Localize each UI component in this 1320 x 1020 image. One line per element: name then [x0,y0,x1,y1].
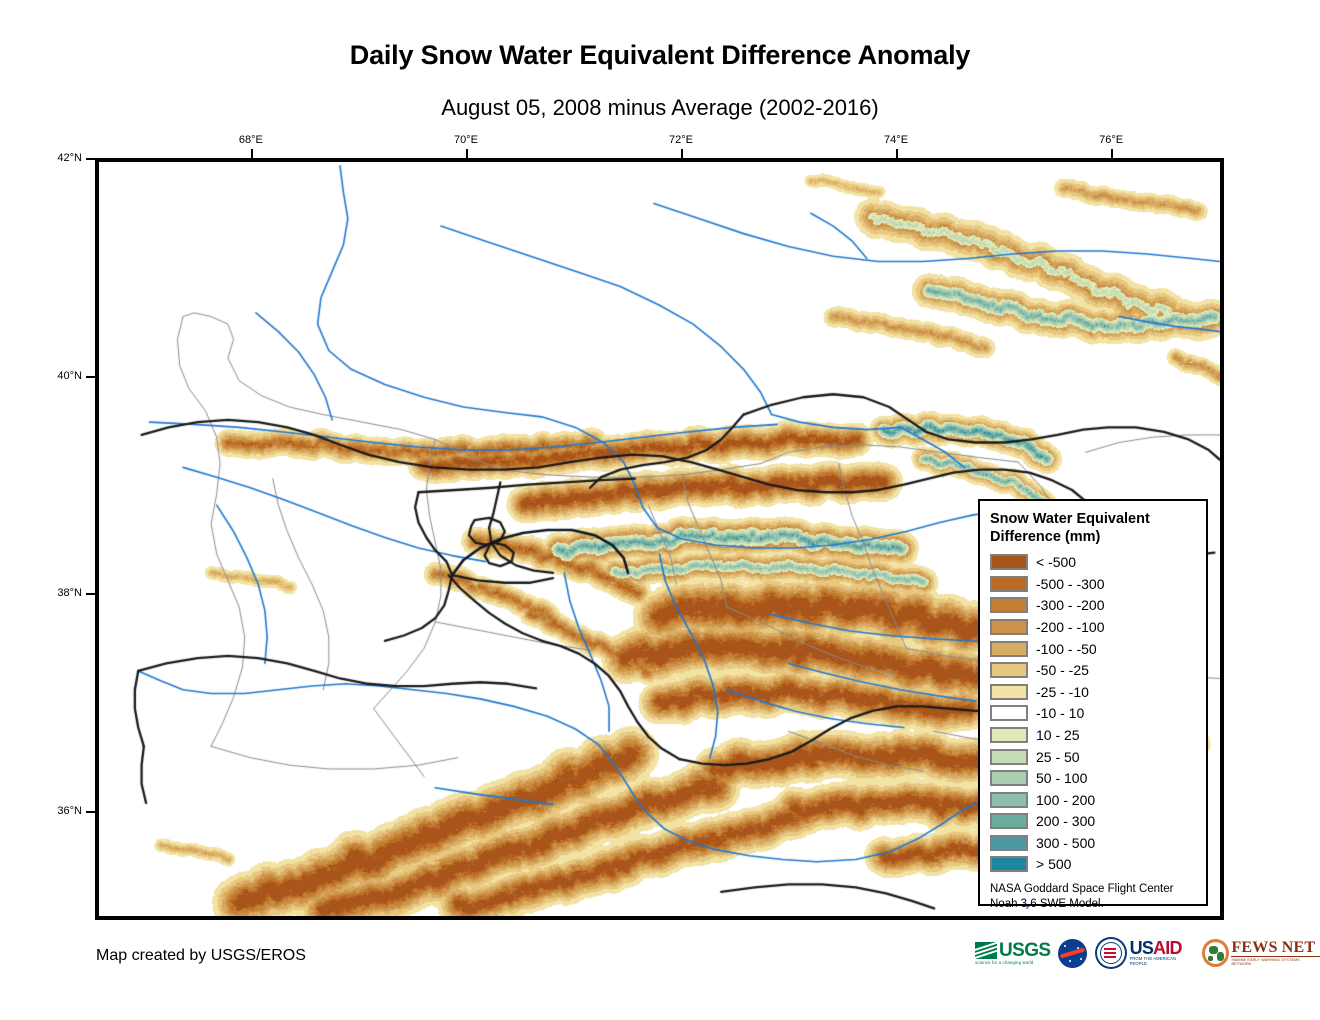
legend-label: -10 - 10 [1036,705,1084,721]
lat-tick-label: 36°N [57,805,82,817]
legend-label: -25 - -10 [1036,684,1089,700]
lon-tick [251,149,253,158]
lon-tick [896,149,898,158]
legend-swatch [990,641,1028,657]
legend-label: -100 - -50 [1036,641,1097,657]
legend-swatch [990,727,1028,743]
legend-swatch [990,792,1028,808]
lon-tick [1111,149,1113,158]
lat-tick-label: 38°N [57,587,82,599]
legend-row: 25 - 50 [990,746,1206,768]
legend-row: -100 - -50 [990,638,1206,660]
legend-title-line2: Difference (mm) [990,529,1206,547]
usgs-wordmark: USGS [999,942,1050,959]
map-legend: Snow Water Equivalent Difference (mm) < … [978,499,1208,906]
legend-label: -500 - -300 [1036,576,1104,592]
lon-tick-label: 68°E [239,134,263,146]
lon-tick-label: 74°E [884,134,908,146]
legend-label: -50 - -25 [1036,662,1089,678]
lon-tick-label: 76°E [1099,134,1123,146]
usaid-seal-icon [1095,937,1127,969]
usaid-wordmark: USAID [1130,940,1194,956]
legend-label: 300 - 500 [1036,835,1095,851]
legend-row: 300 - 500 [990,832,1206,854]
legend-row: 50 - 100 [990,767,1206,789]
fews-net-logo: FEWS NET FAMINE EARLY WARNING SYSTEMS NE… [1202,939,1320,967]
legend-row: 10 - 25 [990,724,1206,746]
legend-row: > 500 [990,854,1206,876]
legend-label: -200 - -100 [1036,619,1104,635]
legend-title-line1: Snow Water Equivalent [990,511,1206,529]
logo-bar: USGS science for a changing world USAID … [975,936,1320,970]
legend-swatch [990,705,1028,721]
lat-tick [86,593,95,595]
lat-tick [86,811,95,813]
fews-globe-icon [1202,939,1230,967]
legend-label: -300 - -200 [1036,597,1104,613]
usgs-tagline: science for a changing world [975,960,1050,965]
legend-row: -300 - -200 [990,595,1206,617]
lat-tick [86,376,95,378]
legend-label: 100 - 200 [1036,792,1095,808]
legend-title: Snow Water Equivalent Difference (mm) [990,511,1206,546]
nasa-logo [1058,939,1087,968]
page-title: Daily Snow Water Equivalent Difference A… [0,40,1320,71]
map-credit: Map created by USGS/EROS [96,947,306,965]
legend-label: 200 - 300 [1036,813,1095,829]
legend-swatch [990,597,1028,613]
page-subtitle: August 05, 2008 minus Average (2002-2016… [0,95,1320,121]
legend-label: < -500 [1036,554,1076,570]
legend-swatch [990,576,1028,592]
legend-label: 25 - 50 [1036,749,1080,765]
fews-tagline: FAMINE EARLY WARNING SYSTEMS NETWORK [1231,958,1320,966]
legend-row: -50 - -25 [990,659,1206,681]
legend-swatch [990,554,1028,570]
map-poster: Daily Snow Water Equivalent Difference A… [0,0,1320,1020]
legend-label: 10 - 25 [1036,727,1080,743]
legend-row: -200 - -100 [990,616,1206,638]
nasa-swoosh-icon [1060,947,1085,958]
lon-tick-label: 70°E [454,134,478,146]
usgs-logo: USGS science for a changing world [975,938,1050,968]
legend-class-list: < -500-500 - -300-300 - -200-200 - -100-… [990,551,1206,875]
usgs-mark-icon [975,942,997,959]
legend-label: 50 - 100 [1036,770,1087,786]
legend-row: -500 - -300 [990,573,1206,595]
legend-note-line2: Noah 3.6 SWE Model. [990,897,1206,912]
legend-row: 100 - 200 [990,789,1206,811]
lat-tick-label: 42°N [57,152,82,164]
legend-row: < -500 [990,551,1206,573]
legend-swatch [990,749,1028,765]
lon-tick-label: 72°E [669,134,693,146]
legend-source-note: NASA Goddard Space Flight Center Noah 3.… [990,882,1206,912]
legend-row: -25 - -10 [990,681,1206,703]
usaid-tagline: FROM THE AMERICAN PEOPLE [1130,956,1194,966]
legend-swatch [990,835,1028,851]
fews-wordmark: FEWS NET [1231,940,1320,955]
legend-swatch [990,813,1028,829]
legend-label: > 500 [1036,856,1071,872]
legend-swatch [990,684,1028,700]
legend-swatch [990,619,1028,635]
legend-swatch [990,770,1028,786]
legend-note-line1: NASA Goddard Space Flight Center [990,882,1206,897]
legend-swatch [990,662,1028,678]
lat-tick-label: 40°N [57,370,82,382]
usaid-logo: USAID FROM THE AMERICAN PEOPLE [1095,937,1194,969]
lon-tick [466,149,468,158]
lat-tick [86,158,95,160]
lon-tick [681,149,683,158]
legend-row: -10 - 10 [990,703,1206,725]
legend-row: 200 - 300 [990,811,1206,833]
legend-swatch [990,856,1028,872]
